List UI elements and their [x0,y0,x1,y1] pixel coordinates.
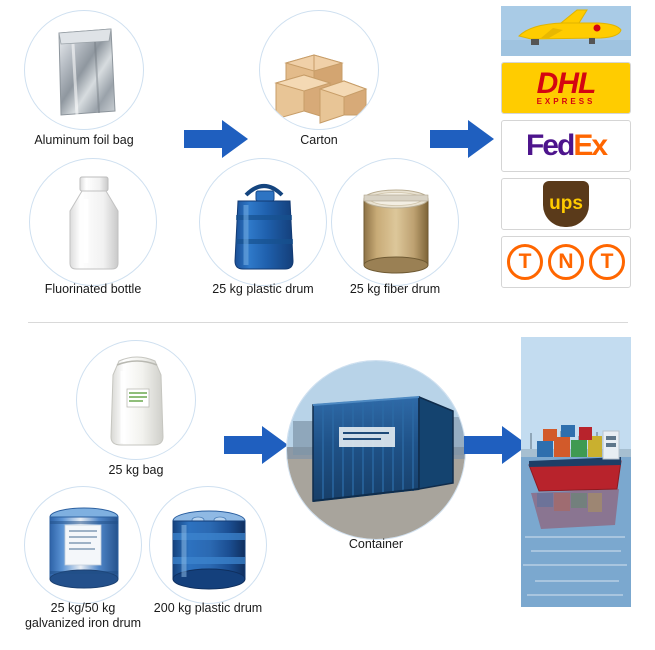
carton-icon [260,11,379,130]
fedex-ex-text: Ex [573,129,606,163]
tnt-letter-2: N [548,244,584,280]
courier-tnt: T N T [501,236,631,288]
section-divider [28,322,628,323]
bag-25kg-caption: 25 kg bag [66,463,206,478]
fluorinated-bottle-circle [29,158,157,286]
courier-ups: ups [501,178,631,230]
plastic-drum-25kg-caption: 25 kg plastic drum [193,282,333,297]
courier-dhl: DHL EXPRESS [501,62,631,114]
arrow-to-ship [462,424,530,471]
aluminum-foil-bag-caption: Aluminum foil bag [14,133,154,148]
fedex-wordmark: FedEx [502,121,630,171]
fluorinated-bottle-icon [30,159,157,286]
arrow-to-container [222,424,290,471]
container-icon [287,361,466,540]
fluorinated-bottle-caption: Fluorinated bottle [23,282,163,297]
cargo-plane-panel [501,6,631,56]
carton-circle [259,10,379,130]
tnt-letter-1: T [507,244,543,280]
container-caption: Container [306,537,446,552]
tnt-letter-3: T [589,244,625,280]
fiber-drum-25kg-icon [332,159,459,286]
plastic-drum-200kg-caption: 200 kg plastic drum [138,601,278,616]
bag-25kg-circle [76,340,196,460]
bag-25kg-icon [77,341,196,460]
arrow-to-carton [182,118,250,165]
fiber-drum-25kg-caption: 25 kg fiber drum [325,282,465,297]
dhl-express-label: EXPRESS [537,97,596,106]
plastic-drum-200kg-icon [150,487,267,604]
packaging-shipping-diagram: Aluminum foil bag Carton [0,0,655,650]
fedex-fed-text: Fed [526,129,573,163]
container-circle [286,360,466,540]
cargo-ship-icon [521,337,631,607]
arrow-to-couriers [428,118,496,165]
aluminum-foil-bag-circle [24,10,144,130]
dhl-wordmark: DHL [537,71,596,97]
galvanized-iron-drum-caption: 25 kg/50 kg galvanized iron drum [13,601,153,631]
aluminum-foil-bag-icon [25,11,144,130]
ups-shield-icon: ups [543,181,589,227]
plastic-drum-25kg-icon [200,159,327,286]
galvanized-iron-drum-icon [25,487,142,604]
cargo-ship-panel [521,337,631,607]
plastic-drum-200kg-circle [149,486,267,604]
carton-caption: Carton [249,133,389,148]
tnt-wordmark: T N T [502,237,630,287]
cargo-plane-icon [501,6,631,56]
plastic-drum-25kg-circle [199,158,327,286]
fiber-drum-25kg-circle [331,158,459,286]
galvanized-iron-drum-circle [24,486,142,604]
courier-fedex: FedEx [501,120,631,172]
